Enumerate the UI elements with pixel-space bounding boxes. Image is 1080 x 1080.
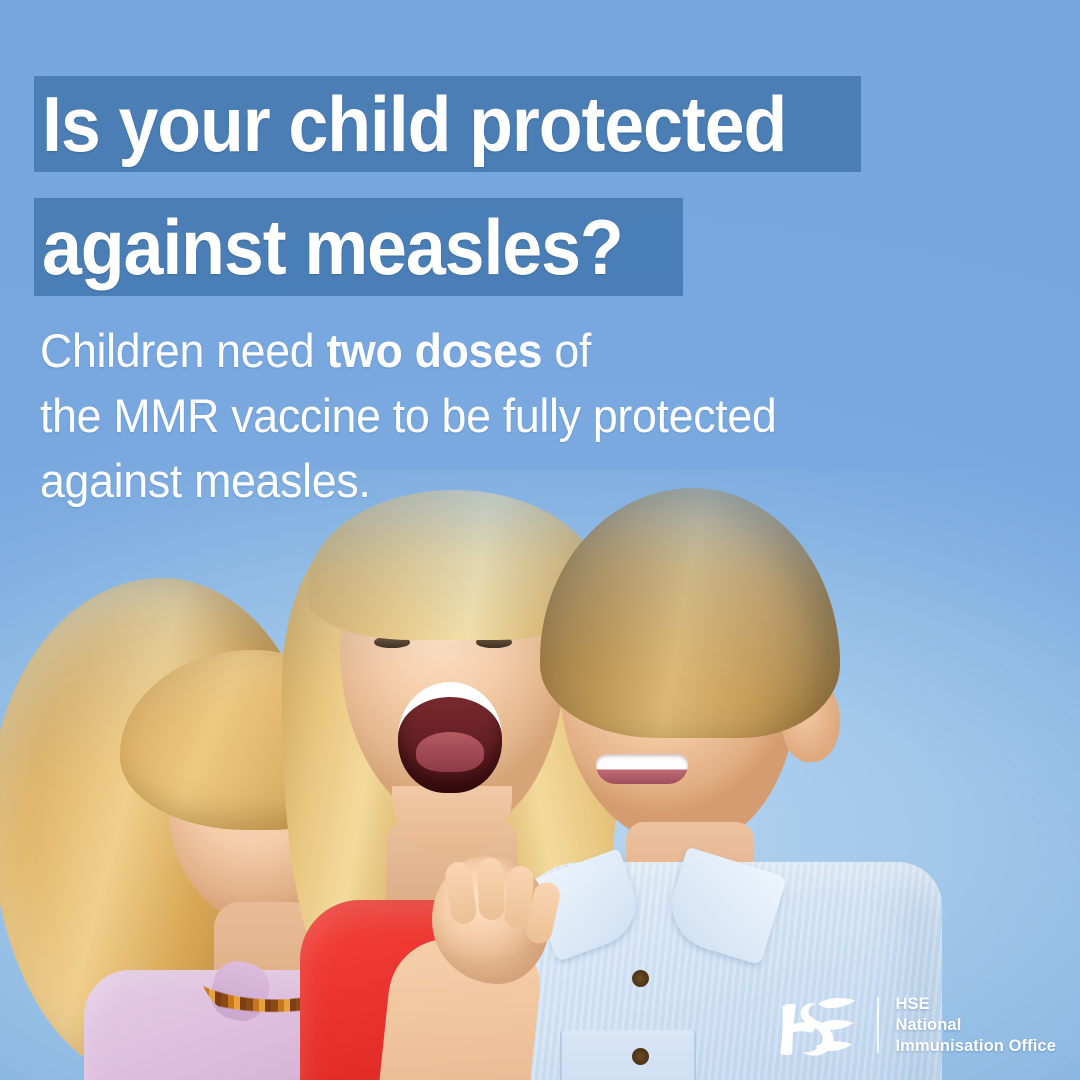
headline-line-1: Is your child protected xyxy=(42,85,786,163)
body-line-1-suffix: of xyxy=(542,324,591,377)
logo-text-line-2: National xyxy=(895,1015,1056,1036)
logo-divider xyxy=(877,997,879,1053)
boy-button-2 xyxy=(632,1048,649,1065)
mother-tongue xyxy=(416,732,484,772)
poster-canvas: Is your child protected against measles?… xyxy=(0,0,1080,1080)
logo-text-block: HSE National Immunisation Office xyxy=(895,994,1056,1057)
boy-finger-2 xyxy=(477,858,505,921)
hse-logo-mark xyxy=(775,988,861,1062)
boy-smile xyxy=(596,754,688,784)
headline-line-2: against measles? xyxy=(42,208,623,286)
boy-shirt-pocket xyxy=(560,1030,696,1080)
headline-band-2: against measles? xyxy=(34,198,683,296)
boy-button-1 xyxy=(632,970,649,987)
body-line-1-prefix: Children need xyxy=(40,324,326,377)
headline-band-1: Is your child protected xyxy=(34,76,861,172)
body-copy: Children need two doses of the MMR vacci… xyxy=(40,318,876,513)
logo-text-line-3: Immunisation Office xyxy=(895,1036,1056,1057)
body-line-2: the MMR vaccine to be fully protected xyxy=(40,383,876,448)
logo-text-line-1: HSE xyxy=(895,994,1056,1015)
body-line-3: against measles. xyxy=(40,448,876,513)
hse-logo: HSE National Immunisation Office xyxy=(775,988,1056,1062)
body-line-1: Children need two doses of xyxy=(40,318,876,383)
body-line-1-emphasis: two doses xyxy=(326,324,542,377)
